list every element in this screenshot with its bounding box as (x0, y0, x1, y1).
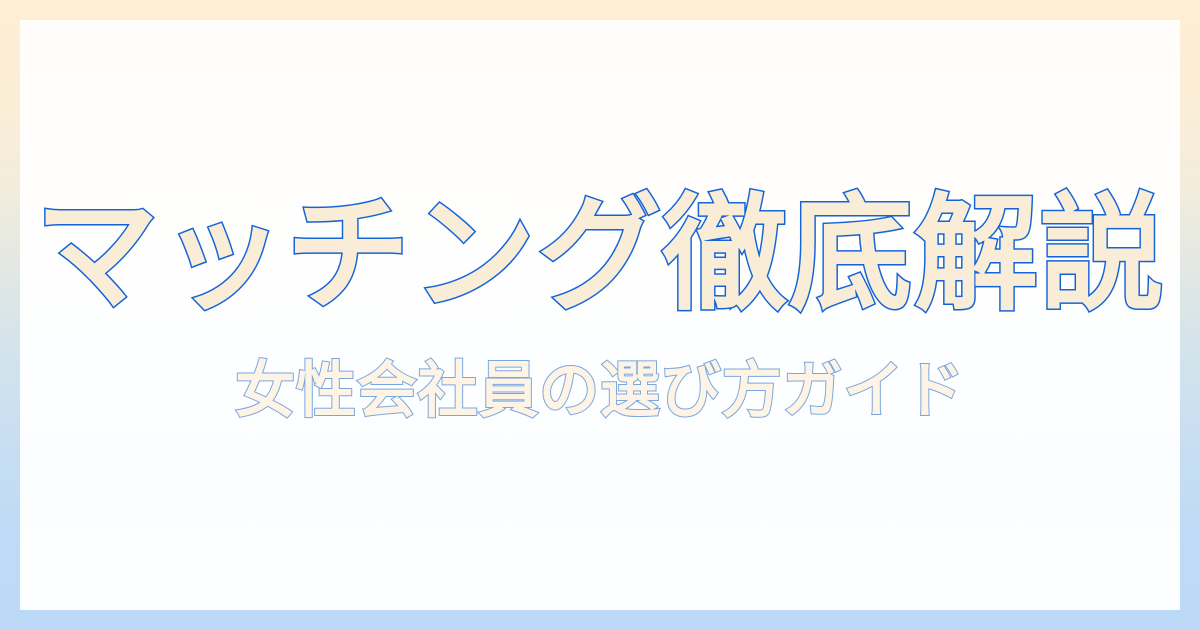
banner-subtitle: 女性会社員の選び方ガイド (29, 360, 1172, 421)
banner-panel: マッチング徹底解説 女性会社員の選び方ガイド (20, 20, 1180, 610)
banner-frame: マッチング徹底解説 女性会社員の選び方ガイド (0, 0, 1200, 630)
banner-title: マッチング徹底解説 (29, 192, 1172, 318)
banner-text-block: マッチング徹底解説 女性会社員の選び方ガイド (20, 192, 1180, 421)
